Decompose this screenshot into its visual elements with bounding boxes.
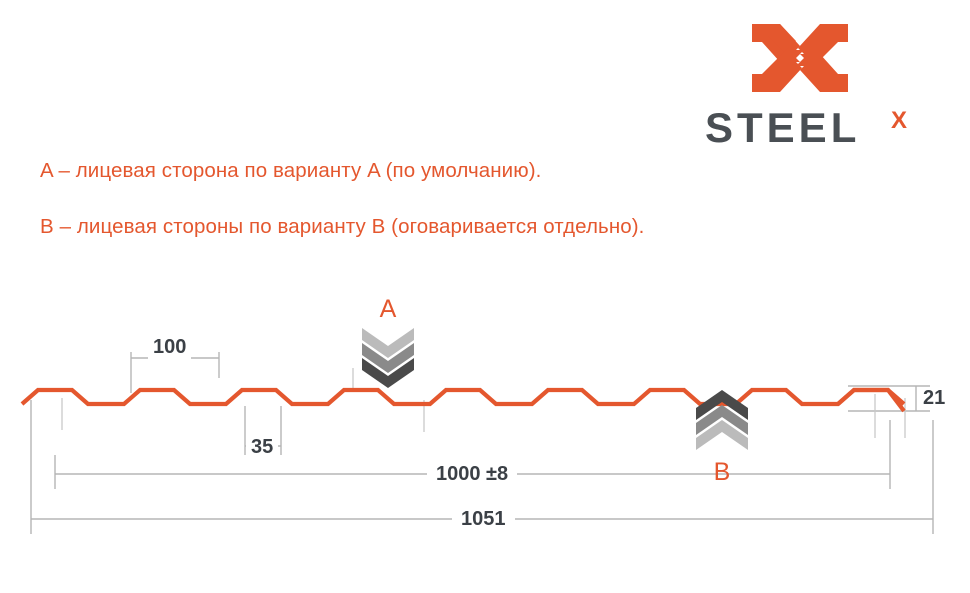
dimension-label-total-width: 1051	[452, 508, 515, 531]
profile-drawing-page: STEEL X A – лицевая сторона по варианту …	[0, 0, 970, 593]
marker-a-chevrons	[362, 328, 414, 388]
dimension-label-working-width: 1000 ±8	[427, 463, 517, 486]
sheet-profile-outline	[22, 390, 904, 404]
profile-drawing	[0, 0, 970, 593]
dimension-label-height: 21	[919, 387, 949, 410]
marker-a-label: A	[368, 295, 408, 324]
dimension-label-pitch: 100	[148, 336, 191, 359]
dimension-label-valley-width: 35	[246, 436, 278, 459]
marker-b-label: B	[702, 458, 742, 487]
